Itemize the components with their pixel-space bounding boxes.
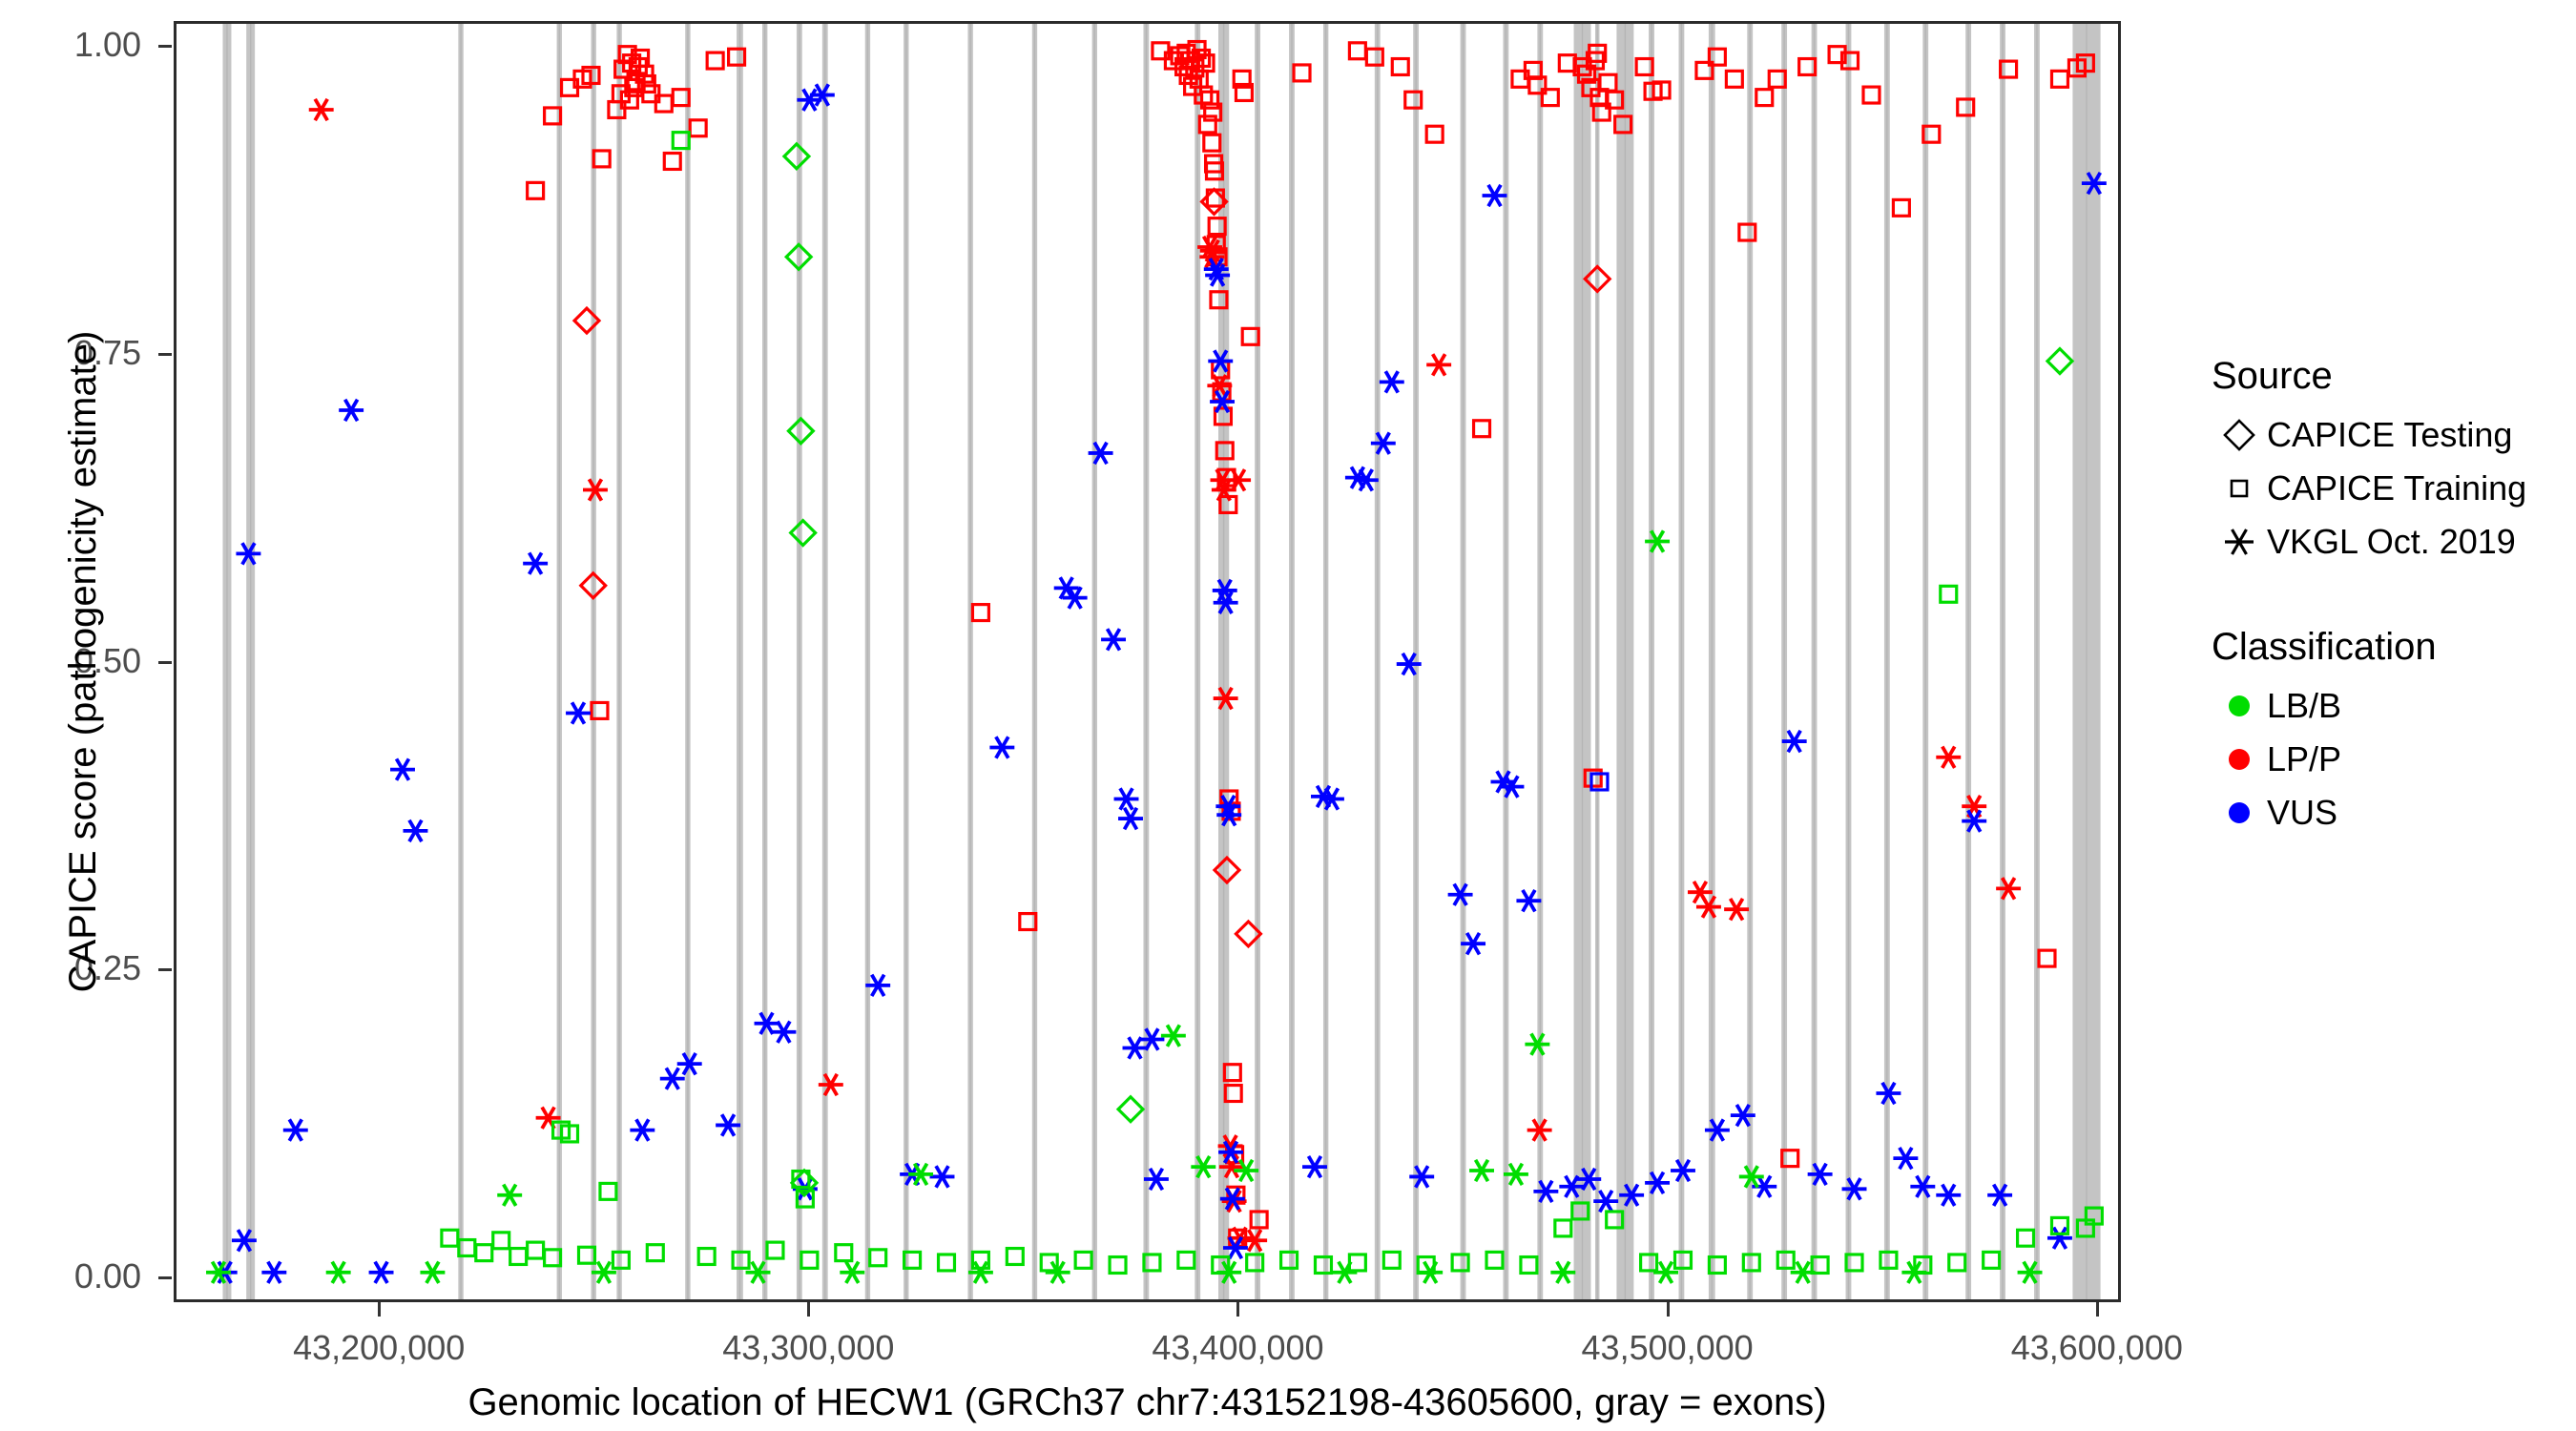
data-point-diamond xyxy=(791,521,816,546)
data-point-asterisk xyxy=(403,820,427,841)
data-point-square xyxy=(2039,950,2055,966)
data-point-asterisk xyxy=(339,400,364,421)
y-tick-mark xyxy=(158,661,172,664)
data-point-square xyxy=(1726,71,1742,87)
legend-item-source-asterisk[interactable]: VKGL Oct. 2019 xyxy=(2212,515,2565,569)
data-point-asterisk xyxy=(1319,788,1344,809)
legend-item-classification-LP-P[interactable]: LP/P xyxy=(2212,733,2565,786)
legend-item-source-square[interactable]: CAPICE Training xyxy=(2212,462,2565,515)
data-point-square xyxy=(1949,1255,1965,1271)
dot-icon xyxy=(2212,737,2267,781)
data-point-square xyxy=(510,1249,527,1265)
square-icon xyxy=(2212,467,2267,510)
data-point-square xyxy=(1392,59,1408,75)
data-point-square xyxy=(1383,1252,1400,1268)
data-point-asterisk xyxy=(1371,432,1396,453)
data-point-square xyxy=(1756,90,1773,106)
data-point-asterisk xyxy=(1332,1262,1357,1283)
data-point-square xyxy=(1007,1249,1023,1265)
asterisk-icon xyxy=(2212,520,2267,564)
data-point-square xyxy=(1863,87,1880,103)
plot-panel xyxy=(174,21,2121,1302)
data-point-asterisk xyxy=(1893,1148,1918,1169)
data-point-asterisk xyxy=(1114,788,1139,809)
exon-bands-layer xyxy=(222,24,2100,1299)
data-point-square xyxy=(1486,1252,1503,1268)
data-point-square xyxy=(1521,1257,1537,1274)
data-point-asterisk xyxy=(819,1074,843,1095)
data-point-square xyxy=(1474,421,1490,437)
y-tick-mark xyxy=(158,1276,172,1279)
data-point-asterisk xyxy=(1962,810,1986,831)
data-point-asterisk xyxy=(1426,354,1451,375)
data-point-asterisk xyxy=(497,1185,522,1206)
data-point-asterisk xyxy=(660,1068,685,1089)
data-point-asterisk xyxy=(908,1164,933,1185)
data-point-square xyxy=(972,605,988,621)
data-point-square xyxy=(1941,586,1957,602)
data-point-square xyxy=(600,1183,616,1199)
legend-classification-title: Classification xyxy=(2212,624,2565,670)
data-points-layer xyxy=(206,42,2107,1283)
data-point-asterisk xyxy=(1550,1262,1575,1283)
scatter-plot-canvas xyxy=(177,24,2118,1299)
y-tick-mark xyxy=(158,968,172,971)
data-point-asterisk xyxy=(989,736,1014,757)
chart-root: 0.000.250.500.751.00 CAPICE score (patho… xyxy=(0,0,2576,1431)
dot-icon xyxy=(2212,791,2267,835)
data-point-asterisk xyxy=(1936,747,1961,768)
legend-spacer xyxy=(2212,569,2565,624)
data-point-square xyxy=(1204,135,1220,151)
data-point-square xyxy=(476,1245,492,1261)
data-point-asterisk xyxy=(1118,808,1143,829)
data-point-asterisk xyxy=(1226,469,1251,490)
data-point-asterisk xyxy=(1418,1262,1443,1283)
legend: Source CAPICE TestingCAPICE TrainingVKGL… xyxy=(2212,353,2565,840)
data-point-square xyxy=(2018,1230,2034,1246)
data-point-square xyxy=(1893,199,1909,216)
x-tick-label: 43,500,000 xyxy=(1582,1328,1754,1368)
data-point-asterisk xyxy=(1101,629,1126,650)
data-point-square xyxy=(2051,71,2067,87)
data-point-asterisk xyxy=(1409,1166,1434,1187)
legend-item-classification-LB-B[interactable]: LB/B xyxy=(2212,679,2565,733)
data-point-diamond xyxy=(2047,349,2072,374)
data-point-asterisk xyxy=(840,1262,864,1283)
y-tick-mark xyxy=(158,45,172,48)
data-point-diamond xyxy=(1118,1097,1143,1122)
data-point-asterisk xyxy=(390,758,415,779)
data-point-square xyxy=(698,1249,715,1265)
data-point-square xyxy=(707,52,723,69)
data-point-square xyxy=(647,1245,663,1261)
legend-item-label: LB/B xyxy=(2267,686,2341,726)
data-point-square xyxy=(1178,1252,1195,1268)
y-tick-mark xyxy=(158,353,172,356)
data-point-asterisk xyxy=(369,1262,394,1283)
x-tick-mark xyxy=(378,1302,381,1317)
legend-source-title: Source xyxy=(2212,353,2565,399)
data-point-square xyxy=(1555,1220,1571,1236)
data-point-square xyxy=(493,1233,509,1249)
legend-item-classification-VUS[interactable]: VUS xyxy=(2212,786,2565,840)
data-point-asterisk xyxy=(420,1262,445,1283)
data-point-square xyxy=(1984,1252,2000,1268)
x-tick-label: 43,300,000 xyxy=(722,1328,894,1368)
data-point-square xyxy=(1281,1252,1298,1268)
data-point-asterisk xyxy=(1191,1156,1215,1177)
data-point-asterisk xyxy=(1469,1160,1494,1181)
data-point-asterisk xyxy=(1645,1172,1670,1193)
data-point-asterisk xyxy=(1380,371,1404,392)
data-point-square xyxy=(442,1230,458,1246)
data-point-square xyxy=(870,1250,886,1266)
data-point-square xyxy=(939,1255,955,1271)
data-point-asterisk xyxy=(1962,796,1986,817)
data-point-square xyxy=(836,1245,852,1261)
data-point-square xyxy=(1294,65,1310,81)
legend-item-label: CAPICE Training xyxy=(2267,468,2526,508)
x-tick-label: 43,400,000 xyxy=(1152,1328,1323,1368)
x-tick-mark xyxy=(807,1302,810,1317)
data-point-asterisk xyxy=(523,552,548,573)
data-point-square xyxy=(1075,1252,1091,1268)
x-tick-label: 43,200,000 xyxy=(293,1328,465,1368)
data-point-asterisk xyxy=(1808,1164,1833,1185)
data-point-asterisk xyxy=(309,99,334,120)
data-point-asterisk xyxy=(566,702,591,723)
legend-item-label: VUS xyxy=(2267,793,2337,833)
data-point-asterisk xyxy=(1645,530,1670,551)
dot-icon xyxy=(2212,684,2267,728)
data-point-square xyxy=(690,120,706,136)
data-point-square xyxy=(801,1252,818,1268)
data-point-asterisk xyxy=(1936,1185,1961,1206)
data-point-asterisk xyxy=(1724,899,1749,920)
data-point-square xyxy=(528,182,544,198)
legend-item-source-diamond[interactable]: CAPICE Testing xyxy=(2212,408,2565,462)
data-point-asterisk xyxy=(283,1119,308,1140)
data-point-asterisk xyxy=(1089,443,1113,464)
data-point-square xyxy=(767,1242,783,1258)
gridlines-layer xyxy=(227,24,2087,1299)
y-axis-label: CAPICE score (pathogenicity estimate) xyxy=(55,21,111,1302)
data-point-square xyxy=(664,154,680,170)
data-point-asterisk xyxy=(1161,1025,1186,1046)
x-tick-mark xyxy=(2096,1302,2099,1317)
x-tick-label: 43,600,000 xyxy=(2011,1328,2183,1368)
data-point-asterisk xyxy=(1842,1178,1867,1199)
x-tick-mark xyxy=(1667,1302,1670,1317)
data-point-asterisk xyxy=(630,1119,654,1140)
legend-classification-rows: LB/BLP/PVUS xyxy=(2212,679,2565,840)
x-axis-label: Genomic location of HECW1 (GRCh37 chr7:4… xyxy=(174,1381,2121,1424)
data-point-asterisk xyxy=(1996,878,2021,899)
data-point-asterisk xyxy=(1987,1185,2012,1206)
legend-item-label: CAPICE Testing xyxy=(2267,415,2512,455)
legend-item-label: VKGL Oct. 2019 xyxy=(2267,522,2516,562)
data-point-asterisk xyxy=(261,1262,286,1283)
data-point-asterisk xyxy=(1705,1119,1730,1140)
data-point-square xyxy=(528,1242,544,1258)
legend-source-rows: CAPICE TestingCAPICE TrainingVKGL Oct. 2… xyxy=(2212,408,2565,569)
data-point-asterisk xyxy=(930,1166,955,1187)
data-point-asterisk xyxy=(326,1262,351,1283)
data-point-square xyxy=(1426,126,1443,142)
x-tick-mark xyxy=(1236,1302,1239,1317)
diamond-icon xyxy=(2212,413,2267,457)
data-point-square xyxy=(1110,1257,1126,1274)
legend-item-label: LP/P xyxy=(2267,739,2341,779)
data-point-asterisk xyxy=(1533,1181,1558,1202)
data-point-square xyxy=(1349,43,1365,59)
